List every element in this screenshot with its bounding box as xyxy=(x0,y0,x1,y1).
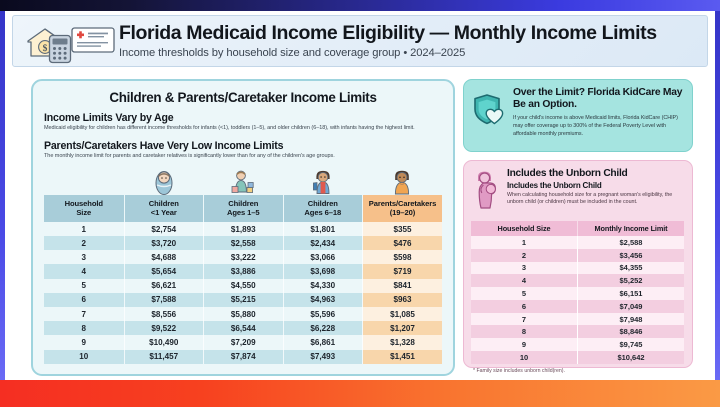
unborn-income-table: Household Size Monthly Income Limit 1$2,… xyxy=(471,221,684,364)
table-row: 3$4,355 xyxy=(471,262,684,275)
cell-income-limit: $1,207 xyxy=(363,321,443,335)
table-row: 4$5,252 xyxy=(471,274,684,287)
calculator-icon xyxy=(48,34,72,64)
cell-household-size: 1 xyxy=(471,236,578,249)
cell-income-limit: $3,698 xyxy=(283,264,363,278)
section-heading-age: Income Limits Vary by Age xyxy=(44,112,442,124)
cell-monthly-income-limit: $10,642 xyxy=(578,351,685,364)
cell-monthly-income-limit: $8,846 xyxy=(578,325,685,338)
cell-income-limit: $598 xyxy=(363,250,443,264)
cell-household-size: 1 xyxy=(44,222,124,236)
cell-income-limit: $3,886 xyxy=(204,264,284,278)
col-parents-caretakers: Parents/Caretakers(19–20) xyxy=(363,195,443,222)
cell-household-size: 8 xyxy=(471,325,578,338)
children-income-table-body: 1$2,754$1,893$1,801$3552$3,720$2,558$2,4… xyxy=(44,222,442,364)
kidcare-title: Over the Limit? Florida KidCare May Be a… xyxy=(513,87,683,111)
table-row: 3$4,688$3,222$3,066$598 xyxy=(44,250,442,264)
school-child-backpack-icon xyxy=(312,170,334,195)
cell-income-limit: $7,209 xyxy=(204,335,284,349)
unborn-table-header-row: Household Size Monthly Income Limit xyxy=(471,221,684,236)
table-row: 10$11,457$7,874$7,493$1,451 xyxy=(44,350,442,364)
medical-insurance-card-icon xyxy=(71,27,115,53)
col-unborn-income-limit: Monthly Income Limit xyxy=(578,221,685,236)
shield-heart-icon xyxy=(472,93,506,127)
cell-income-limit: $1,801 xyxy=(283,222,363,236)
col-unborn-household-size: Household Size xyxy=(471,221,578,236)
cell-monthly-income-limit: $3,456 xyxy=(578,249,685,262)
cell-household-size: 5 xyxy=(44,279,124,293)
table-row: 7$8,556$5,880$5,596$1,085 xyxy=(44,307,442,321)
cell-household-size: 4 xyxy=(471,274,578,287)
cell-income-limit: $10,490 xyxy=(124,335,204,349)
table-row: 6$7,049 xyxy=(471,300,684,313)
table-row: 10$10,642 xyxy=(471,351,684,364)
cell-monthly-income-limit: $2,588 xyxy=(578,236,685,249)
cell-income-limit: $7,493 xyxy=(283,350,363,364)
cell-household-size: 7 xyxy=(44,307,124,321)
table-row: 9$10,490$7,209$6,861$1,328 xyxy=(44,335,442,349)
cell-household-size: 10 xyxy=(471,351,578,364)
cell-monthly-income-limit: $7,948 xyxy=(578,313,685,326)
cell-monthly-income-limit: $9,745 xyxy=(578,338,685,351)
table-row: 6$7,588$5,215$4,963$963 xyxy=(44,293,442,307)
adult-caretaker-icon xyxy=(391,170,413,195)
section-heading-parents: Parents/Caretakers Have Very Low Income … xyxy=(44,140,442,152)
cell-income-limit: $2,434 xyxy=(283,236,363,250)
header-icon-group: $ xyxy=(13,17,117,65)
page-title: Florida Medicaid Income Eligibility — Mo… xyxy=(119,23,707,44)
header-banner: $ xyxy=(12,15,708,67)
cell-income-limit: $5,654 xyxy=(124,264,204,278)
cell-income-limit: $355 xyxy=(363,222,443,236)
table-row: 8$9,522$6,544$6,228$1,207 xyxy=(44,321,442,335)
cell-income-limit: $3,222 xyxy=(204,250,284,264)
pregnant-woman-icon xyxy=(471,170,501,210)
cell-income-limit: $2,754 xyxy=(124,222,204,236)
unborn-footnote: * Family size includes unborn child(ren)… xyxy=(471,368,684,374)
table-row: 4$5,654$3,886$3,698$719 xyxy=(44,264,442,278)
cell-household-size: 8 xyxy=(44,321,124,335)
cell-monthly-income-limit: $4,355 xyxy=(578,262,685,275)
cell-monthly-income-limit: $6,151 xyxy=(578,287,685,300)
section-body-age: Medicaid eligibility for children has di… xyxy=(44,125,442,133)
cell-income-limit: $4,688 xyxy=(124,250,204,264)
cell-income-limit: $6,861 xyxy=(283,335,363,349)
cell-household-size: 2 xyxy=(471,249,578,262)
cell-income-limit: $6,621 xyxy=(124,279,204,293)
col-children-6-18: ChildrenAges 6–18 xyxy=(283,195,363,222)
cell-income-limit: $7,588 xyxy=(124,293,204,307)
cell-income-limit: $5,880 xyxy=(204,307,284,321)
cell-income-limit: $3,720 xyxy=(124,236,204,250)
cell-household-size: 7 xyxy=(471,313,578,326)
cell-household-size: 3 xyxy=(471,262,578,275)
bottom-decorative-band xyxy=(0,380,720,407)
cell-household-size: 10 xyxy=(44,350,124,364)
table-row: 8$8,846 xyxy=(471,325,684,338)
cell-income-limit: $1,893 xyxy=(204,222,284,236)
swaddled-baby-icon xyxy=(154,170,174,195)
cell-household-size: 2 xyxy=(44,236,124,250)
col-household-size: HouseholdSize xyxy=(44,195,124,222)
cell-household-size: 6 xyxy=(44,293,124,307)
cell-household-size: 4 xyxy=(44,264,124,278)
table-row: 9$9,745 xyxy=(471,338,684,351)
col-children-1-5: ChildrenAges 1–5 xyxy=(204,195,284,222)
right-column: Over the Limit? Florida KidCare May Be a… xyxy=(463,79,693,368)
cell-income-limit: $719 xyxy=(363,264,443,278)
cell-income-limit: $5,215 xyxy=(204,293,284,307)
cell-income-limit: $4,963 xyxy=(283,293,363,307)
table-row: 2$3,720$2,558$2,434$476 xyxy=(44,236,442,250)
children-income-table: HouseholdSize Children<1 Year ChildrenAg… xyxy=(44,195,442,364)
cell-income-limit: $4,330 xyxy=(283,279,363,293)
table-row: 5$6,621$4,550$4,330$841 xyxy=(44,279,442,293)
table-header-row: HouseholdSize Children<1 Year ChildrenAg… xyxy=(44,195,442,222)
cell-income-limit: $4,550 xyxy=(204,279,284,293)
table-row: 5$6,151 xyxy=(471,287,684,300)
left-panel-title: Children & Parents/Caretaker Income Limi… xyxy=(44,90,442,105)
unborn-body: When calculating household size for a pr… xyxy=(507,192,684,207)
column-icon-strip xyxy=(44,169,442,195)
infographic-canvas: $ xyxy=(5,11,715,380)
table-row: 1$2,754$1,893$1,801$355 xyxy=(44,222,442,236)
cell-income-limit: $3,066 xyxy=(283,250,363,264)
cell-income-limit: $11,457 xyxy=(124,350,204,364)
children-parents-panel: Children & Parents/Caretaker Income Limi… xyxy=(31,79,455,376)
cell-household-size: 9 xyxy=(44,335,124,349)
cell-income-limit: $2,558 xyxy=(204,236,284,250)
cell-income-limit: $476 xyxy=(363,236,443,250)
svg-text:$: $ xyxy=(43,43,48,54)
section-body-parents: The monthly income limit for parents and… xyxy=(44,153,442,161)
unborn-income-table-body: 1$2,5882$3,4563$4,3554$5,2525$6,1516$7,0… xyxy=(471,236,684,364)
unborn-subtitle: Includes the Unborn Child xyxy=(507,181,684,190)
cell-household-size: 3 xyxy=(44,250,124,264)
cell-household-size: 5 xyxy=(471,287,578,300)
cell-income-limit: $8,556 xyxy=(124,307,204,321)
table-row: 7$7,948 xyxy=(471,313,684,326)
cell-income-limit: $6,228 xyxy=(283,321,363,335)
cell-income-limit: $1,451 xyxy=(363,350,443,364)
cell-monthly-income-limit: $5,252 xyxy=(578,274,685,287)
right-decorative-edge xyxy=(715,11,720,380)
unborn-child-panel: Includes the Unborn Child Includes the U… xyxy=(463,160,693,368)
table-row: 1$2,588 xyxy=(471,236,684,249)
col-children-under-1: Children<1 Year xyxy=(124,195,204,222)
cell-household-size: 9 xyxy=(471,338,578,351)
cell-income-limit: $1,328 xyxy=(363,335,443,349)
cell-income-limit: $6,544 xyxy=(204,321,284,335)
table-row: 2$3,456 xyxy=(471,249,684,262)
cell-income-limit: $841 xyxy=(363,279,443,293)
top-decorative-band xyxy=(0,0,720,11)
cell-household-size: 6 xyxy=(471,300,578,313)
page-subtitle: Income thresholds by household size and … xyxy=(119,47,707,59)
kidcare-callout-panel: Over the Limit? Florida KidCare May Be a… xyxy=(463,79,693,152)
cell-income-limit: $9,522 xyxy=(124,321,204,335)
unborn-title: Includes the Unborn Child xyxy=(507,168,684,180)
cell-income-limit: $7,874 xyxy=(204,350,284,364)
cell-monthly-income-limit: $7,049 xyxy=(578,300,685,313)
cell-income-limit: $5,596 xyxy=(283,307,363,321)
toddler-blocks-icon xyxy=(230,170,256,195)
cell-income-limit: $963 xyxy=(363,293,443,307)
kidcare-body: If your child's income is above Medicaid… xyxy=(513,114,683,138)
cell-income-limit: $1,085 xyxy=(363,307,443,321)
